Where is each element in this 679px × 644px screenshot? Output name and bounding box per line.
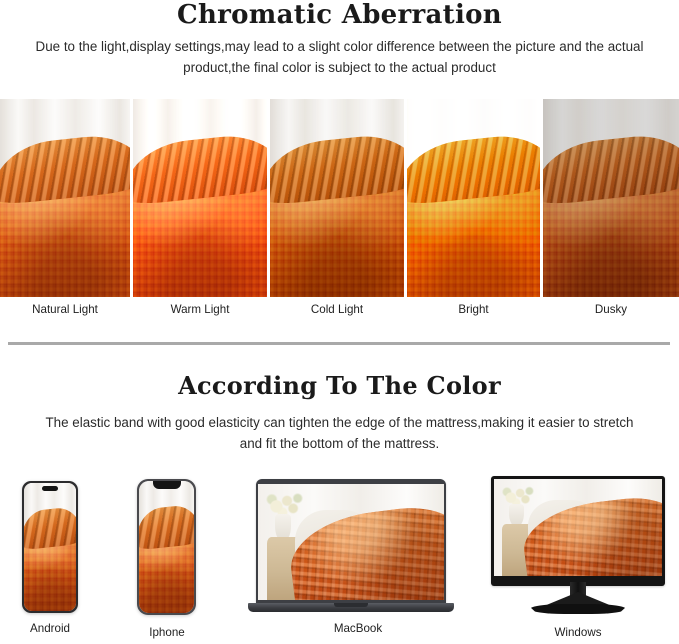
macbook-hinge-notch: [334, 603, 368, 607]
iphone-shell: [137, 479, 196, 615]
light-sample-image-bright: [407, 99, 540, 297]
device-mockup-android: [22, 481, 78, 613]
blanket-drape-roll: [139, 504, 194, 550]
blanket-photo-natural-light: [0, 99, 130, 297]
blanket-photo-portrait: [139, 481, 194, 613]
blanket-photo-dusky: [543, 99, 679, 297]
light-sample-image-cold-light: [270, 99, 404, 297]
blanket-photo-wide: [494, 479, 662, 576]
monitor-stand-column: [544, 592, 612, 606]
android-screen: [24, 483, 76, 611]
monitor-screen: [494, 479, 662, 576]
macbook-screen: [258, 484, 444, 600]
blanket-photo-bright: [407, 99, 540, 297]
light-sample-label-natural-light: Natural Light: [0, 303, 130, 316]
iphone-screen: [139, 481, 194, 613]
android-phone-shell: [22, 481, 78, 613]
light-sample-image-natural-light: [0, 99, 130, 297]
device-mockup-iphone: [137, 479, 196, 615]
section-1-title: Chromatic Aberration: [0, 0, 679, 30]
light-sample-labels: Natural Light Warm Light Cold Light Brig…: [0, 303, 679, 323]
light-sample-label-cold-light: Cold Light: [270, 303, 404, 316]
product-detail-page: Chromatic Aberration Due to the light,di…: [0, 0, 679, 644]
light-sample-image-warm-light: [133, 99, 267, 297]
device-label-windows: Windows: [528, 626, 628, 639]
section-1-description: Due to the light,display settings,may le…: [22, 36, 657, 78]
device-mockup-windows-monitor: [491, 476, 665, 616]
section-divider: [8, 342, 670, 345]
device-label-android: Android: [0, 622, 100, 635]
blanket-photo-cold-light: [270, 99, 404, 297]
section-2-description: The elastic band with good elasticity ca…: [38, 412, 641, 454]
light-sample-label-warm-light: Warm Light: [133, 303, 267, 316]
light-sample-label-dusky: Dusky: [543, 303, 679, 316]
light-sample-image-dusky: [543, 99, 679, 297]
light-comparison-strip: [0, 99, 679, 297]
device-label-macbook: MacBook: [258, 622, 458, 635]
blanket-photo-warm-light: [133, 99, 267, 297]
blanket-drape-roll: [24, 505, 76, 550]
device-label-iphone: Iphone: [117, 626, 217, 639]
section-2-title: According To The Color: [0, 372, 679, 400]
device-mockup-macbook: [248, 479, 454, 616]
monitor-stand-base: [530, 604, 626, 614]
blanket-photo-wide: [258, 484, 444, 600]
camera-cutout-icon: [42, 486, 58, 491]
blanket-photo-portrait: [24, 483, 76, 611]
notch-icon: [153, 481, 181, 489]
device-mockup-row: Android Iphone: [0, 470, 679, 644]
light-sample-label-bright: Bright: [407, 303, 540, 316]
